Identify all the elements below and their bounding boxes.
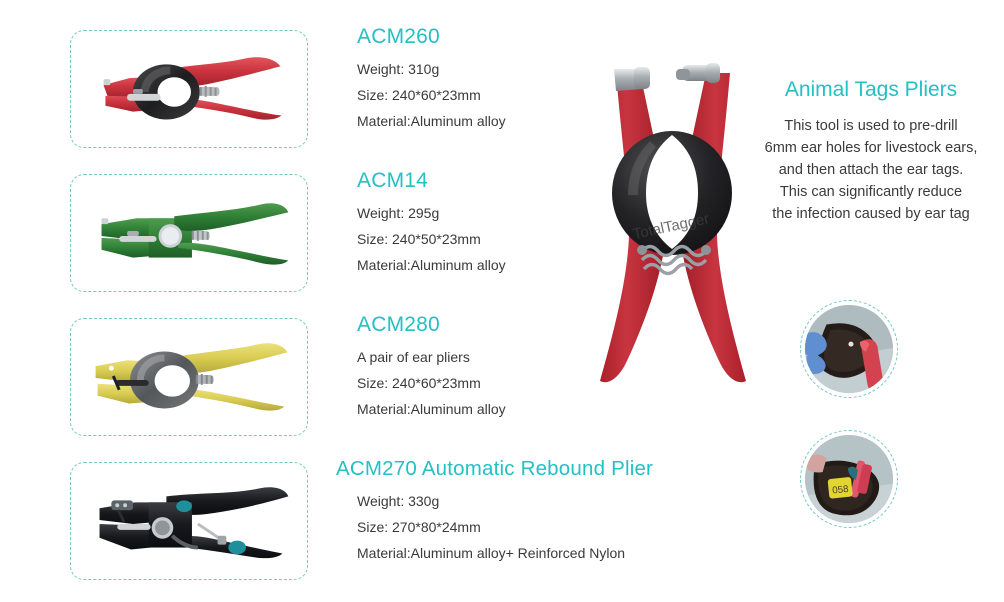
- green-ear-tag-plier-photo: [71, 175, 307, 291]
- large-red-animal-tag-plier-photo: TotalTagger: [580, 45, 765, 405]
- pre-drill-illustration: [805, 305, 893, 393]
- product-spec: Size: 270*80*24mm: [357, 514, 697, 540]
- product-spec: Material:Aluminum alloy+ Reinforced Nylo…: [357, 540, 697, 566]
- yellow-ear-tag-plier-photo: [71, 319, 307, 435]
- catalog-page: ACM260 Weight: 310g Size: 240*60*23mm Ma…: [0, 0, 1004, 602]
- hero-product-image: TotalTagger: [580, 45, 765, 405]
- hero-description: This tool is used to pre-drill 6mm ear h…: [740, 115, 1002, 225]
- ear-pre-drilling-photo[interactable]: [800, 300, 898, 398]
- tagged-ear-illustration: 058: [805, 435, 893, 523]
- product-info-acm270: ACM270 Automatic Rebound Plier Weight: 3…: [357, 456, 697, 566]
- product-thumbnail-acm280[interactable]: [70, 318, 308, 436]
- product-title: ACM270 Automatic Rebound Plier: [336, 456, 697, 482]
- red-ear-tag-plier-photo: [71, 31, 307, 147]
- product-spec: Weight: 330g: [357, 488, 697, 514]
- hero-description-line: and then attach the ear tags.: [740, 159, 1002, 181]
- photo-content: 058: [805, 435, 893, 523]
- product-row: ACM270 Automatic Rebound Plier Weight: 3…: [0, 456, 700, 596]
- product-thumbnail-acm260[interactable]: [70, 30, 308, 148]
- product-thumbnail-acm270[interactable]: [70, 462, 308, 580]
- product-thumbnail-acm14[interactable]: [70, 174, 308, 292]
- black-automatic-rebound-plier-photo: [71, 463, 307, 579]
- ear-tag-number: 058: [832, 484, 849, 497]
- photo-content: [805, 305, 893, 393]
- tagged-ear-photo[interactable]: 058: [800, 430, 898, 528]
- hero-description-line: the infection caused by ear tag: [740, 203, 1002, 225]
- hero-description-line: 6mm ear holes for livestock ears,: [740, 137, 1002, 159]
- hero-description-line: This tool is used to pre-drill: [740, 115, 1002, 137]
- hero-title: Animal Tags Pliers: [740, 75, 1002, 105]
- hero-description-line: This can significantly reduce: [740, 181, 1002, 203]
- hero-text-block: Animal Tags Pliers This tool is used to …: [740, 75, 1002, 225]
